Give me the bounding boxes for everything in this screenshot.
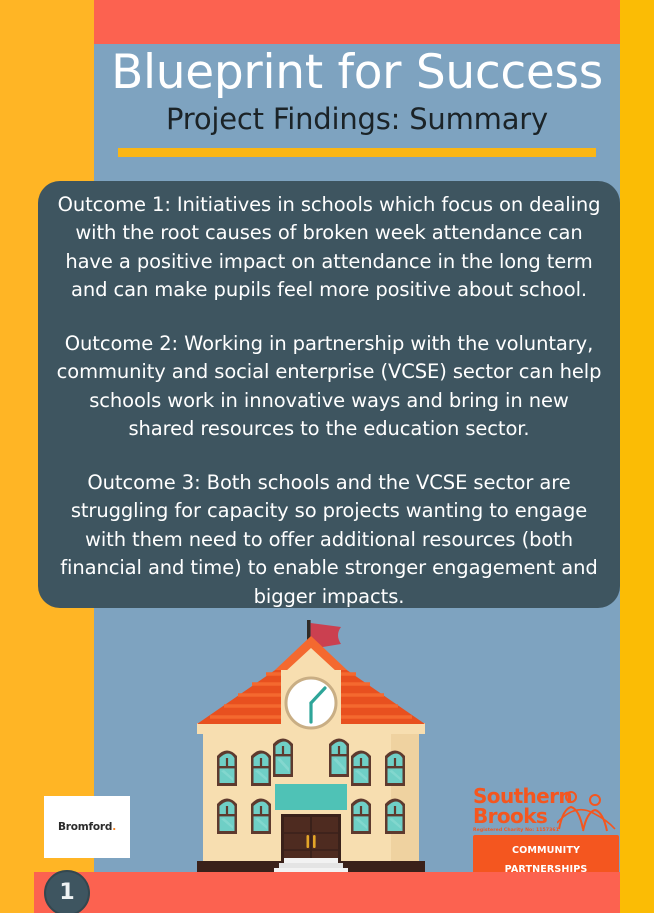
page-title: Blueprint for Success [94, 44, 620, 99]
window-right-top-b [385, 751, 405, 787]
entrance-signboard [275, 784, 347, 810]
southern-brooks-people-icon [557, 789, 617, 833]
building-body-shade [391, 730, 419, 861]
window-right-top-a [351, 751, 371, 787]
bromford-logo-name: Bromford [58, 821, 112, 833]
bromford-logo-text: Bromford. [58, 821, 116, 833]
window-right-bottom-a [351, 799, 371, 835]
poster-page: Blueprint for Success Project Findings: … [0, 0, 654, 913]
outcomes-card: Outcome 1: Initiatives in schools which … [38, 181, 620, 608]
bromford-logo: Bromford. [44, 796, 130, 858]
window-left-top-a [217, 751, 237, 787]
outcome-3-text: Outcome 3: Both schools and the VCSE sec… [56, 469, 602, 611]
outcome-1-text: Outcome 1: Initiatives in schools which … [56, 191, 602, 305]
southern-brooks-strapline: COMMUNITY PARTNERSHIPS [505, 845, 588, 875]
bottom-accent-band [34, 872, 620, 913]
right-border-band [620, 0, 654, 913]
page-number-text: 1 [59, 882, 74, 904]
outcome-2-text: Outcome 2: Working in partnership with t… [56, 330, 602, 444]
door-handle-left-icon [307, 835, 310, 848]
page-subtitle: Project Findings: Summary [94, 99, 620, 136]
top-accent-band [94, 0, 620, 44]
window-left-bottom-b [251, 799, 271, 835]
school-building-illustration [185, 618, 437, 876]
window-upper-inner-right [329, 739, 349, 778]
header-divider-bar [118, 148, 596, 157]
window-left-top-b [251, 751, 271, 787]
window-left-bottom-a [217, 799, 237, 835]
window-upper-inner-left [273, 739, 293, 778]
bromford-logo-dot: . [112, 821, 116, 833]
page-number-badge: 1 [44, 870, 90, 913]
header: Blueprint for Success Project Findings: … [94, 44, 620, 157]
window-right-bottom-b [385, 799, 405, 835]
southern-brooks-logo: Southern Brooks Registered Charity No: 1… [473, 787, 619, 862]
door-handle-right-icon [313, 835, 316, 848]
